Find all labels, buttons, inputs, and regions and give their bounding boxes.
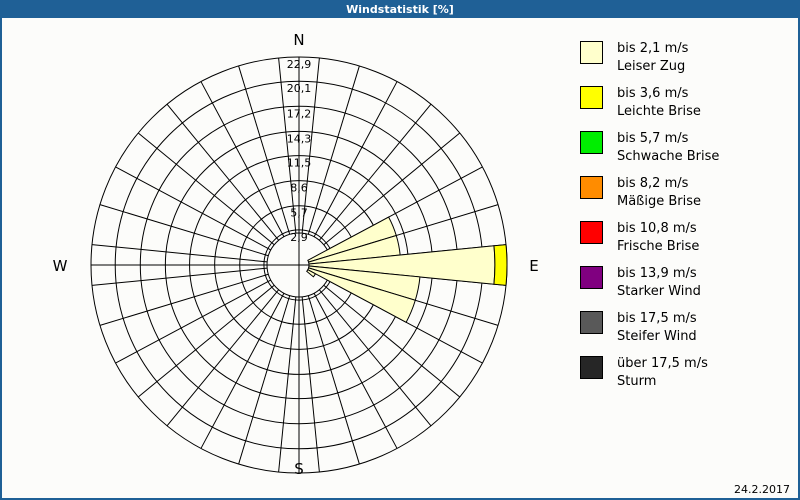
legend-color-swatch [580,356,603,379]
legend-item-text: bis 3,6 m/sLeichte Brise [617,85,701,121]
legend-item[interactable]: bis 8,2 m/sMäßige Brise [580,175,790,211]
windstatistik-window: Windstatistik [%] 2,95,78,611,514,317,22… [0,0,800,500]
legend-item[interactable]: bis 5,7 m/sSchwache Brise [580,130,790,166]
legend-speed-label: bis 2,1 m/s [617,40,688,58]
legend-color-swatch [580,221,603,244]
legend-speed-label: bis 17,5 m/s [617,310,697,328]
legend-speed-label: bis 3,6 m/s [617,85,701,103]
legend-name-label: Starker Wind [617,283,701,301]
footer-date: 24.2.2017 [734,483,790,496]
radial-tick-label: 20,1 [287,82,312,95]
window-title: Windstatistik [%] [346,3,454,16]
compass-label-west: W [53,257,68,275]
legend-item-text: bis 8,2 m/sMäßige Brise [617,175,701,211]
legend-color-swatch [580,86,603,109]
legend-name-label: Frische Brise [617,238,699,256]
legend-speed-label: bis 8,2 m/s [617,175,701,193]
compass-label-north: N [293,31,304,49]
legend-item-text: bis 17,5 m/sSteifer Wind [617,310,697,346]
legend-item[interactable]: über 17,5 m/sSturm [580,355,790,391]
radial-tick-label: 8,6 [290,182,308,195]
grid-spoke [138,133,274,245]
legend-name-label: Steifer Wind [617,328,697,346]
wind-rose-svg: 2,95,78,611,514,317,220,122,9 N S W E [2,18,562,488]
grid-spoke [319,290,431,426]
legend-item-text: bis 13,9 m/sStarker Wind [617,265,701,301]
legend-item[interactable]: bis 13,9 m/sStarker Wind [580,265,790,301]
legend-speed-label: über 17,5 m/s [617,355,708,373]
legend-name-label: Leiser Zug [617,58,688,76]
legend-item[interactable]: bis 17,5 m/sSteifer Wind [580,310,790,346]
legend-color-swatch [580,41,603,64]
legend-speed-label: bis 10,8 m/s [617,220,699,238]
legend-color-swatch [580,266,603,289]
legend-item-text: über 17,5 m/sSturm [617,355,708,391]
legend-speed-label: bis 5,7 m/s [617,130,719,148]
grid-spoke [167,290,279,426]
grid-spoke [138,285,274,397]
compass-label-south: S [294,460,304,478]
legend-color-swatch [580,131,603,154]
radial-tick-label: 14,3 [287,132,312,145]
radial-tick-label: 17,2 [287,107,312,120]
wind-rose-wedges [307,217,507,322]
legend-name-label: Mäßige Brise [617,193,701,211]
wind-rose-wedge [494,245,507,286]
grid-spoke [319,104,431,240]
legend-speed-label: bis 13,9 m/s [617,265,701,283]
legend-name-label: Sturm [617,373,708,391]
legend-item[interactable]: bis 2,1 m/sLeiser Zug [580,40,790,76]
legend-color-swatch [580,311,603,334]
legend-item-text: bis 10,8 m/sFrische Brise [617,220,699,256]
legend-name-label: Leichte Brise [617,103,701,121]
legend-item-text: bis 2,1 m/sLeiser Zug [617,40,688,76]
legend-name-label: Schwache Brise [617,148,719,166]
legend-item[interactable]: bis 3,6 m/sLeichte Brise [580,85,790,121]
compass-label-east: E [529,257,538,275]
window-title-bar: Windstatistik [%] [2,2,798,18]
radial-tick-label: 11,5 [287,157,312,170]
radial-tick-label: 2,9 [290,231,308,244]
legend: bis 2,1 m/sLeiser Zugbis 3,6 m/sLeichte … [580,40,790,400]
radial-tick-label: 5,7 [290,207,308,220]
legend-item-text: bis 5,7 m/sSchwache Brise [617,130,719,166]
grid-spoke [167,104,279,240]
radial-tick-label: 22,9 [287,58,312,71]
legend-item[interactable]: bis 10,8 m/sFrische Brise [580,220,790,256]
legend-color-swatch [580,176,603,199]
